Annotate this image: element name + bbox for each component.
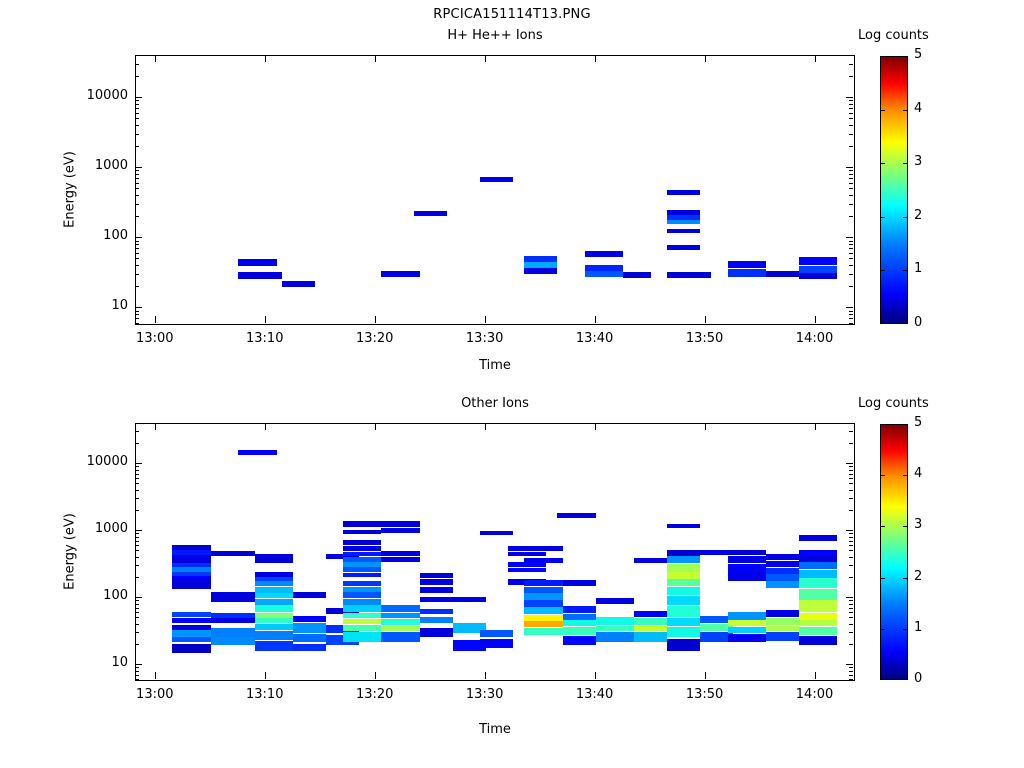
- heatmap-cell: [343, 552, 381, 557]
- y-axis-minor-tick: [849, 533, 853, 534]
- y-axis-minor-tick: [849, 244, 853, 245]
- y-axis-minor-tick: [849, 577, 853, 578]
- heatmap-cell: [343, 521, 381, 527]
- y-axis-minor-tick: [135, 104, 139, 105]
- colorbar-tick-label: 1: [914, 620, 922, 635]
- heatmap-cell: [563, 606, 596, 613]
- heatmap-cell: [667, 245, 700, 250]
- y-axis-minor-tick: [849, 76, 853, 77]
- heatmap-cell: [728, 269, 766, 277]
- heatmap-cell: [585, 251, 623, 257]
- heatmap-cell: [172, 630, 210, 637]
- y-axis-minor-tick: [849, 55, 853, 56]
- y-axis-tick-label: 10: [43, 298, 128, 313]
- heatmap-cell: [480, 177, 513, 181]
- heatmap-cell: [343, 581, 381, 586]
- y-axis-tick-label: 100: [43, 228, 128, 243]
- heatmap-cell: [343, 530, 381, 535]
- colorbar-tick: [880, 526, 885, 527]
- x-axis-tick: [705, 316, 706, 323]
- y-axis-minor-tick: [849, 644, 853, 645]
- y-axis-minor-tick: [849, 490, 853, 491]
- y-axis-minor-tick: [849, 286, 853, 287]
- y-axis-minor-tick: [849, 510, 853, 511]
- y-axis-minor-tick: [135, 134, 139, 135]
- y-axis-minor-tick: [849, 443, 853, 444]
- y-axis-minor-tick: [135, 183, 139, 184]
- heatmap-cell: [343, 592, 381, 598]
- heatmap-cell: [524, 607, 562, 614]
- y-axis-minor-tick: [135, 470, 139, 471]
- y-axis-tick-label: 1000: [43, 158, 128, 173]
- heatmap-cell: [293, 592, 326, 598]
- y-axis-minor-tick: [849, 253, 853, 254]
- heatmap-cell: [667, 556, 700, 563]
- heatmap-cell: [343, 587, 381, 592]
- y-axis-minor-tick: [849, 118, 853, 119]
- y-axis-minor-tick: [849, 241, 853, 242]
- y-axis-minor-tick: [135, 577, 139, 578]
- y-axis-tick: [135, 307, 142, 308]
- colorbar-tick: [880, 217, 885, 218]
- colorbar-tick: [880, 163, 885, 164]
- y-axis-label-top: Energy (eV): [63, 110, 78, 270]
- colorbar-tick: [903, 629, 908, 630]
- heatmap-cell: [563, 614, 596, 620]
- y-axis-minor-tick: [849, 174, 853, 175]
- heatmap-cell: [667, 564, 700, 572]
- colorbar-tick: [903, 475, 908, 476]
- y-axis-minor-tick: [135, 667, 139, 668]
- y-axis-minor-tick: [135, 146, 139, 147]
- heatmap-cell: [728, 556, 766, 563]
- y-axis-tick-label: 10000: [43, 454, 128, 469]
- y-axis-minor-tick: [849, 104, 853, 105]
- x-axis-tick: [815, 672, 816, 679]
- heatmap-cell: [255, 587, 293, 593]
- heatmap-cell: [524, 587, 562, 593]
- y-axis-minor-tick: [849, 679, 853, 680]
- heatmap-cell: [524, 546, 562, 551]
- x-axis-tick-label: 13:20: [335, 687, 415, 702]
- y-axis-minor-tick: [135, 617, 139, 618]
- y-axis-minor-tick: [135, 286, 139, 287]
- y-axis-minor-tick: [135, 557, 139, 558]
- y-axis-minor-tick: [849, 323, 853, 324]
- heatmap-cell: [667, 550, 700, 556]
- heatmap-cell: [343, 557, 381, 562]
- y-axis-minor-tick: [849, 545, 853, 546]
- y-axis-minor-tick: [135, 204, 139, 205]
- x-axis-tick: [375, 316, 376, 323]
- y-axis-minor-tick: [135, 612, 139, 613]
- heatmap-cell: [381, 528, 419, 533]
- y-axis-minor-tick: [849, 311, 853, 312]
- heatmap-cell: [255, 559, 293, 563]
- heatmap-cell: [667, 220, 700, 224]
- x-axis-tick: [265, 423, 266, 430]
- heatmap-cell: [172, 644, 210, 654]
- heatmap-cell: [799, 627, 837, 635]
- y-axis-minor-tick: [135, 195, 139, 196]
- heatmap-cell: [799, 570, 837, 578]
- y-axis-minor-tick: [135, 644, 139, 645]
- colorbar-tick-label: 3: [914, 517, 922, 532]
- x-axis-tick: [155, 672, 156, 679]
- colorbar-tick: [903, 163, 908, 164]
- x-axis-tick-label: 13:20: [335, 331, 415, 346]
- heatmap-cell: [172, 625, 210, 630]
- heatmap-cell: [799, 535, 837, 541]
- y-axis-label-bottom: Energy (eV): [63, 472, 78, 632]
- heatmap-cell: [728, 550, 766, 555]
- heatmap-cell: [667, 272, 711, 278]
- y-axis-minor-tick: [135, 483, 139, 484]
- heatmap-cell: [728, 572, 766, 581]
- colorbar-title-bottom: Log counts: [858, 396, 929, 411]
- heatmap-cell: [420, 609, 453, 614]
- heatmap-cell: [381, 626, 419, 632]
- x-axis-label-bottom: Time: [135, 722, 855, 737]
- x-axis-tick: [595, 423, 596, 430]
- x-axis-tick: [705, 672, 706, 679]
- x-axis-tick-label: 14:00: [775, 687, 855, 702]
- heatmap-cell: [766, 574, 799, 581]
- y-axis-minor-tick: [849, 204, 853, 205]
- x-axis-tick: [265, 55, 266, 62]
- heatmap-cell: [381, 632, 419, 642]
- heatmap-cell: [420, 587, 453, 593]
- heatmap-cell: [766, 632, 799, 641]
- x-axis-tick-label: 13:50: [665, 687, 745, 702]
- colorbar-tick: [880, 270, 885, 271]
- y-axis-minor-tick: [135, 188, 139, 189]
- y-axis-tick: [135, 597, 142, 598]
- heatmap-panel-bottom[interactable]: [135, 423, 855, 681]
- y-axis-minor-tick: [849, 195, 853, 196]
- y-axis-minor-tick: [135, 498, 139, 499]
- heatmap-panel-top[interactable]: [135, 55, 855, 325]
- heatmap-cell: [293, 634, 326, 642]
- y-axis-minor-tick: [849, 318, 853, 319]
- heatmap-cell: [667, 627, 700, 637]
- heatmap-cell: [381, 605, 419, 612]
- heatmap-cell: [343, 619, 381, 624]
- heatmap-cell: [766, 561, 799, 567]
- y-axis-tick: [846, 237, 853, 238]
- x-axis-tick: [815, 316, 816, 323]
- heatmap-cell: [172, 580, 210, 584]
- colorbar-tick-label: 0: [914, 315, 922, 330]
- heatmap-cell: [634, 558, 667, 564]
- y-axis-minor-tick: [135, 541, 139, 542]
- colorbar-tick: [903, 270, 908, 271]
- y-axis-minor-tick: [849, 483, 853, 484]
- heatmap-cell: [453, 597, 486, 602]
- heatmap-cell: [420, 579, 453, 585]
- heatmap-cell: [293, 644, 326, 652]
- heatmap-cell: [480, 531, 513, 536]
- y-axis-minor-tick: [849, 612, 853, 613]
- y-axis-minor-tick: [849, 600, 853, 601]
- heatmap-cell: [508, 552, 546, 556]
- heatmap-cell: [255, 624, 293, 630]
- y-axis-minor-tick: [135, 216, 139, 217]
- heatmap-cell: [343, 567, 381, 572]
- colorbar-tick-label: 5: [914, 47, 922, 62]
- y-axis-minor-tick: [135, 679, 139, 680]
- y-axis-minor-tick: [849, 565, 853, 566]
- y-axis-minor-tick: [849, 498, 853, 499]
- heatmap-cell: [596, 617, 634, 625]
- colorbar-tick-label: 1: [914, 261, 922, 276]
- heatmap-cell: [766, 554, 799, 560]
- x-axis-label-top: Time: [135, 358, 855, 373]
- y-axis-tick: [846, 97, 853, 98]
- heatmap-cell: [211, 597, 255, 602]
- y-axis-minor-tick: [135, 113, 139, 114]
- colorbar-top: [880, 56, 908, 324]
- y-axis-minor-tick: [849, 64, 853, 65]
- y-axis-minor-tick: [849, 178, 853, 179]
- y-axis-minor-tick: [135, 55, 139, 56]
- x-axis-tick: [265, 672, 266, 679]
- heatmap-cell: [172, 637, 210, 642]
- y-axis-minor-tick: [135, 241, 139, 242]
- heatmap-cell: [343, 625, 381, 631]
- heatmap-cell: [799, 273, 837, 279]
- y-axis-tick-label: 1000: [43, 521, 128, 536]
- colorbar-tick: [880, 578, 885, 579]
- y-axis-minor-tick: [135, 443, 139, 444]
- y-axis-minor-tick: [849, 550, 853, 551]
- y-axis-minor-tick: [135, 604, 139, 605]
- y-axis-minor-tick: [135, 510, 139, 511]
- y-axis-minor-tick: [135, 314, 139, 315]
- colorbar-tick: [903, 217, 908, 218]
- heatmap-cell: [634, 626, 667, 632]
- y-axis-minor-tick: [135, 624, 139, 625]
- y-axis-tick-label: 10: [43, 655, 128, 670]
- x-axis-tick-label: 13:10: [225, 331, 305, 346]
- heatmap-cell: [799, 578, 837, 588]
- x-axis-tick: [485, 55, 486, 62]
- y-axis-minor-tick: [849, 248, 853, 249]
- heatmap-cell: [596, 632, 634, 642]
- heatmap-cell: [667, 606, 700, 617]
- heatmap-cell: [728, 564, 766, 571]
- heatmap-cell: [420, 628, 453, 637]
- heatmap-cell: [667, 618, 700, 626]
- x-axis-tick: [485, 423, 486, 430]
- heatmap-cell: [728, 627, 766, 633]
- x-axis-tick-label: 13:00: [115, 687, 195, 702]
- heatmap-cell: [172, 585, 210, 589]
- y-axis-minor-tick: [135, 318, 139, 319]
- y-axis-minor-tick: [135, 600, 139, 601]
- y-axis-minor-tick: [849, 537, 853, 538]
- heatmap-cell: [799, 613, 837, 619]
- heatmap-cell: [799, 257, 837, 265]
- y-axis-minor-tick: [849, 624, 853, 625]
- y-axis-minor-tick: [135, 244, 139, 245]
- heatmap-cell: [480, 630, 513, 638]
- y-axis-minor-tick: [135, 423, 139, 424]
- y-axis-tick: [135, 530, 142, 531]
- y-axis-minor-tick: [849, 265, 853, 266]
- x-axis-tick-label: 13:30: [445, 687, 525, 702]
- y-axis-minor-tick: [849, 541, 853, 542]
- heatmap-cell: [172, 612, 210, 617]
- colorbar-tick-label: 0: [914, 671, 922, 686]
- x-axis-tick: [155, 423, 156, 430]
- heatmap-cell: [799, 266, 837, 273]
- heatmap-cell: [728, 620, 766, 626]
- heatmap-cell: [728, 612, 766, 619]
- y-axis-minor-tick: [849, 617, 853, 618]
- y-axis-minor-tick: [135, 64, 139, 65]
- y-axis-tick: [846, 664, 853, 665]
- heatmap-cell: [799, 562, 837, 569]
- heatmap-cell: [766, 618, 799, 625]
- y-axis-minor-tick: [135, 258, 139, 259]
- y-axis-minor-tick: [849, 470, 853, 471]
- y-axis-minor-tick: [849, 557, 853, 558]
- heatmap-cell: [667, 524, 700, 529]
- colorbar-tick-label: 2: [914, 569, 922, 584]
- x-axis-tick: [595, 55, 596, 62]
- x-axis-tick: [485, 316, 486, 323]
- panel-title-bottom: Other Ions: [135, 396, 855, 411]
- heatmap-cell: [596, 598, 634, 604]
- y-axis-minor-tick: [135, 608, 139, 609]
- heatmap-cell: [728, 261, 766, 268]
- heatmap-cell: [766, 568, 799, 574]
- y-axis-minor-tick: [135, 537, 139, 538]
- heatmap-cell: [596, 626, 634, 632]
- figure-title: RPCICA151114T13.PNG: [0, 7, 1024, 22]
- x-axis-tick: [265, 316, 266, 323]
- heatmap-cell: [634, 611, 667, 617]
- colorbar-title-top: Log counts: [858, 28, 929, 43]
- y-axis-minor-tick: [849, 188, 853, 189]
- heatmap-cell: [524, 628, 562, 635]
- heatmap-cell: [282, 281, 315, 288]
- y-axis-tick: [846, 463, 853, 464]
- heatmap-cell: [623, 272, 650, 278]
- heatmap-cell: [293, 623, 326, 633]
- heatmap-cell: [634, 632, 667, 642]
- y-axis-tick-label: 10000: [43, 88, 128, 103]
- heatmap-cell: [381, 619, 419, 625]
- heatmap-cell: [728, 634, 766, 642]
- heatmap-cell: [211, 551, 255, 556]
- y-axis-minor-tick: [135, 490, 139, 491]
- y-axis-minor-tick: [135, 265, 139, 266]
- heatmap-cell: [381, 271, 419, 277]
- y-axis-minor-tick: [849, 478, 853, 479]
- colorbar-tick: [903, 578, 908, 579]
- heatmap-cell: [524, 558, 562, 563]
- y-axis-minor-tick: [135, 108, 139, 109]
- y-axis-minor-tick: [849, 604, 853, 605]
- heatmap-cell: [343, 546, 381, 551]
- heatmap-cell: [524, 615, 562, 621]
- x-axis-tick-label: 13:40: [555, 331, 635, 346]
- heatmap-cell: [238, 259, 276, 266]
- heatmap-cell: [381, 521, 419, 527]
- colorbar-tick: [903, 526, 908, 527]
- x-axis-tick: [375, 672, 376, 679]
- colorbar-tick-label: 3: [914, 154, 922, 169]
- y-axis-minor-tick: [849, 216, 853, 217]
- y-axis-minor-tick: [849, 146, 853, 147]
- heatmap-cell: [255, 605, 293, 612]
- colorbar-tick: [903, 110, 908, 111]
- heatmap-cell: [667, 190, 700, 195]
- heatmap-cell: [343, 613, 381, 618]
- y-axis-minor-tick: [849, 108, 853, 109]
- heatmap-cell: [211, 628, 255, 637]
- heatmap-cell: [557, 513, 595, 518]
- y-axis-minor-tick: [135, 675, 139, 676]
- y-axis-minor-tick: [849, 170, 853, 171]
- y-axis-minor-tick: [135, 76, 139, 77]
- heatmap-cell: [255, 631, 293, 639]
- heatmap-cell: [255, 581, 293, 586]
- y-axis-minor-tick: [135, 253, 139, 254]
- y-axis-tick: [846, 307, 853, 308]
- x-axis-tick: [815, 423, 816, 430]
- heatmap-cell: [667, 579, 700, 586]
- heatmap-cell: [524, 268, 557, 274]
- y-axis-tick: [846, 530, 853, 531]
- heatmap-cell: [414, 211, 447, 216]
- y-axis-tick: [135, 664, 142, 665]
- y-axis-minor-tick: [135, 533, 139, 534]
- y-axis-tick: [135, 237, 142, 238]
- heatmap-cell: [563, 636, 596, 645]
- y-axis-minor-tick: [849, 125, 853, 126]
- y-axis-minor-tick: [135, 248, 139, 249]
- heatmap-cell: [211, 592, 255, 597]
- heatmap-cell: [255, 593, 293, 598]
- y-axis-minor-tick: [849, 671, 853, 672]
- heatmap-cell: [238, 450, 276, 455]
- y-axis-minor-tick: [849, 608, 853, 609]
- heatmap-cell: [667, 587, 700, 596]
- y-axis-minor-tick: [135, 550, 139, 551]
- x-axis-tick: [375, 423, 376, 430]
- y-axis-minor-tick: [849, 632, 853, 633]
- heatmap-cell: [585, 271, 623, 277]
- heatmap-cell: [293, 616, 326, 622]
- y-axis-minor-tick: [849, 113, 853, 114]
- heatmap-cell: [255, 599, 293, 605]
- x-axis-tick-label: 13:00: [115, 331, 195, 346]
- x-axis-tick: [815, 55, 816, 62]
- y-axis-minor-tick: [135, 323, 139, 324]
- heatmap-cell: [255, 618, 293, 623]
- y-axis-minor-tick: [135, 274, 139, 275]
- y-axis-minor-tick: [849, 258, 853, 259]
- heatmap-cell: [238, 272, 282, 279]
- y-axis-minor-tick: [135, 478, 139, 479]
- heatmap-cell: [172, 618, 210, 623]
- y-axis-tick: [135, 167, 142, 168]
- colorbar-tick: [880, 629, 885, 630]
- heatmap-cell: [634, 618, 667, 625]
